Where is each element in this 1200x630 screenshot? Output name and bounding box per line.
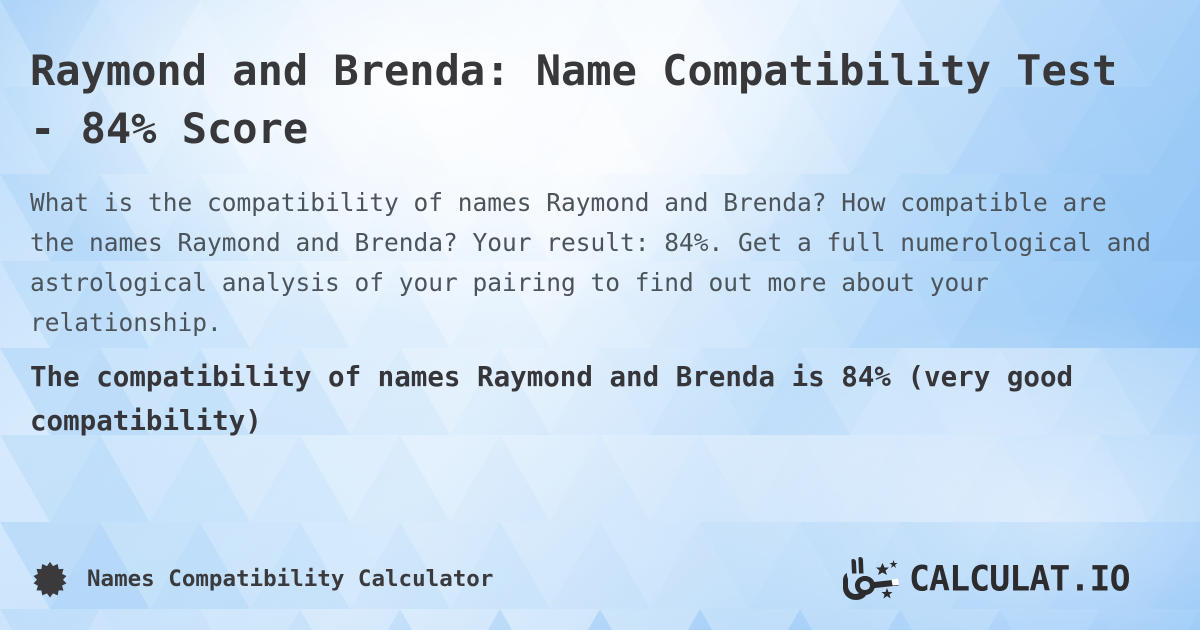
footer-brand-label: Names Compatibility Calculator [87, 566, 493, 592]
intro-description: What is the compatibility of names Raymo… [30, 183, 1160, 343]
card-content: Raymond and Brenda: Name Compatibility T… [0, 0, 1200, 630]
result-statement: The compatibility of names Raymond and B… [30, 355, 1160, 443]
logo-wordmark: CALCULAT.IO [909, 559, 1170, 599]
footer: Names Compatibility Calculator [0, 548, 1200, 610]
page-title: Raymond and Brenda: Name Compatibility T… [30, 42, 1140, 158]
logo-wordmark-text: CALCULAT.IO [909, 559, 1130, 599]
starburst-icon [30, 559, 70, 599]
wand-hand-icon [841, 556, 903, 602]
site-logo[interactable]: CALCULAT.IO [841, 556, 1170, 602]
footer-brand: Names Compatibility Calculator [30, 559, 493, 599]
share-card: Raymond and Brenda: Name Compatibility T… [0, 0, 1200, 630]
